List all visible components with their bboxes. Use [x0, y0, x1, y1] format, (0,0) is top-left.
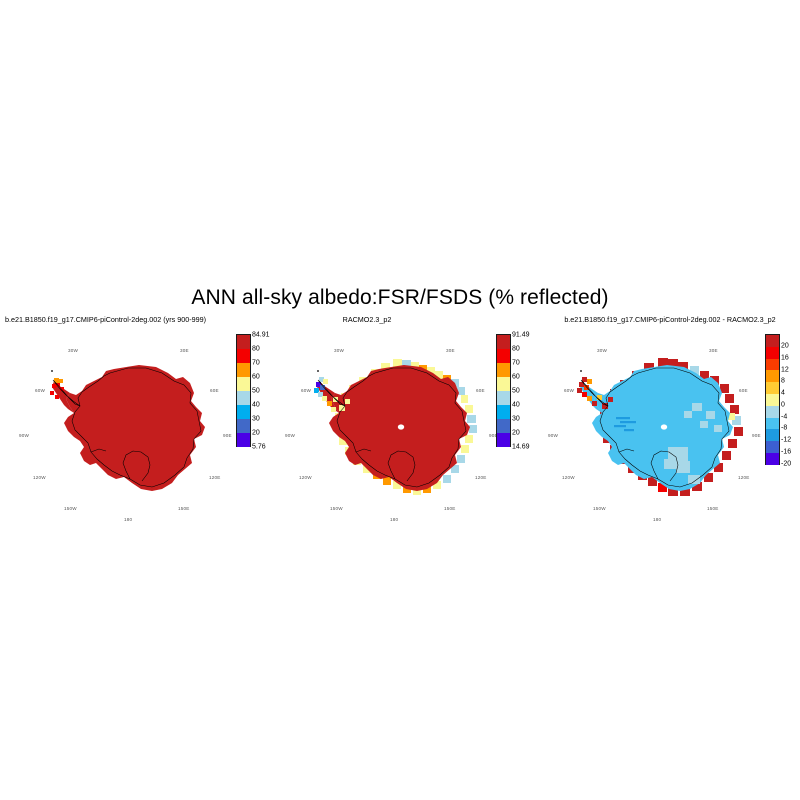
colorbar-band [765, 441, 780, 453]
colorbar-band [765, 382, 780, 394]
graticule-label-90E: 90E [752, 433, 761, 438]
colorbar-tick: 70 [512, 360, 520, 367]
figure-canvas: ANN all-sky albedo:FSR/FSDS (% reflected… [0, 0, 800, 800]
colorbar-case: 84.91 80 70 60 50 40 30 20 5.76 [236, 334, 249, 447]
graticule-label-90W: 90W [19, 433, 29, 438]
map-area-diff: 30W 30E 60W 60E 90W 90E 120W 120E 150W 1… [534, 329, 800, 529]
colorbar-tick: 5.76 [252, 444, 266, 451]
map-area-obs: 30W 30E 60W 60E 90W 90E 120W 120E 150W 1… [268, 329, 534, 529]
colorbar-tick: 20 [512, 430, 520, 437]
colorbar-band [236, 377, 251, 391]
colorbar-tick: 80 [252, 346, 260, 353]
colorbar-band [236, 433, 251, 447]
antarctica-map-case [44, 351, 224, 511]
colorbar-tick: -8 [781, 425, 787, 432]
antarctica-svg-case [44, 351, 224, 511]
colorbar-tick: 40 [512, 402, 520, 409]
panel-title-obs: RACMO2.3_p2 [234, 315, 500, 324]
colorbar-tick: 50 [512, 388, 520, 395]
map-area-case: 30W 30E 60W 60E 90W 90E 120W 120E 150W 1… [0, 329, 268, 529]
colorbar-obs: 91.49 80 70 60 50 40 30 20 14.69 [496, 334, 509, 447]
colorbar-tick: 84.91 [252, 332, 270, 339]
colorbar-band [236, 419, 251, 433]
colorbar-tick: 91.49 [512, 332, 530, 339]
colorbar-band [236, 349, 251, 363]
colorbar-band [765, 334, 780, 347]
panel-title-diff: b.e21.B1850.f19_g17.CMIP6-piControl-2deg… [534, 315, 800, 324]
cell-hot [59, 379, 63, 383]
graticule-label-180: 180 [124, 517, 132, 522]
antarctica-svg-diff [572, 351, 752, 511]
colorbar-tick: 30 [512, 416, 520, 423]
panel-diff: b.e21.B1850.f19_g17.CMIP6-piControl-2deg… [534, 315, 800, 530]
panel-title-case: b.e21.B1850.f19_g17.CMIP6-piControl-2deg… [0, 315, 237, 324]
colorbar-tick: 20 [781, 343, 789, 350]
colorbar-band [765, 406, 780, 418]
colorbar-tick: 50 [252, 388, 260, 395]
cell-hot [60, 387, 64, 391]
colorbar-tick: -16 [781, 449, 791, 456]
colorbar-tick: 60 [512, 374, 520, 381]
south-pole-marker [398, 424, 404, 429]
panel-case: b.e21.B1850.f19_g17.CMIP6-piControl-2deg… [0, 315, 268, 530]
colorbar-band [496, 334, 511, 349]
colorbar-band [496, 419, 511, 433]
antarctica-map-diff [572, 351, 752, 511]
colorbar-tick: 60 [252, 374, 260, 381]
panel-obs: RACMO2.3_p2 30W 30E 60W 60E 90W 90E 120W… [268, 315, 534, 530]
colorbar-band [236, 391, 251, 405]
colorbar-tick: 16 [781, 355, 789, 362]
cell-hot [55, 395, 59, 399]
colorbar-band [236, 363, 251, 377]
graticule-label-180: 180 [653, 517, 661, 522]
colorbar-tick: 70 [252, 360, 260, 367]
colorbar-band [496, 363, 511, 377]
colorbar-band [236, 334, 251, 349]
antarctica-map-obs [309, 351, 489, 511]
colorbar-tick: 80 [512, 346, 520, 353]
colorbar-tick: -12 [781, 437, 791, 444]
colorbar-band [496, 349, 511, 363]
colorbar-band [765, 418, 780, 430]
colorbar-band [765, 370, 780, 382]
graticule-label-90W: 90W [285, 433, 295, 438]
page-title: ANN all-sky albedo:FSR/FSDS (% reflected… [0, 286, 800, 310]
colorbar-band [496, 405, 511, 419]
colorbar-tick: 4 [781, 390, 785, 397]
colorbar-tick: -4 [781, 414, 787, 421]
graticule-label-180: 180 [390, 517, 398, 522]
colorbar-tick: 8 [781, 378, 785, 385]
colorbar-band [765, 347, 780, 359]
colorbar-band [765, 429, 780, 441]
colorbar-band [236, 405, 251, 419]
colorbar-tick: -20 [781, 461, 791, 468]
colorbar-diff: 20 16 12 8 4 0 -4 -8 -12 -16 -20 [765, 334, 778, 465]
colorbar-tick: 14.69 [512, 444, 530, 451]
ice-sheet-fill [64, 365, 205, 491]
south-pole-marker [661, 424, 667, 429]
colorbar-band [765, 453, 780, 465]
colorbar-band [765, 359, 780, 371]
colorbar-band [496, 377, 511, 391]
antarctica-svg-obs [309, 351, 489, 511]
colorbar-band [496, 391, 511, 405]
graticule-label-90E: 90E [223, 433, 232, 438]
colorbar-band [765, 394, 780, 406]
cell-hot [50, 391, 54, 395]
colorbar-tick: 12 [781, 367, 789, 374]
colorbar-tick: 20 [252, 430, 260, 437]
colorbar-tick: 40 [252, 402, 260, 409]
colorbar-tick: 0 [781, 402, 785, 409]
cell-hot [52, 384, 56, 388]
colorbar-tick: 30 [252, 416, 260, 423]
colorbar-band [496, 433, 511, 447]
graticule-label-90W: 90W [548, 433, 558, 438]
